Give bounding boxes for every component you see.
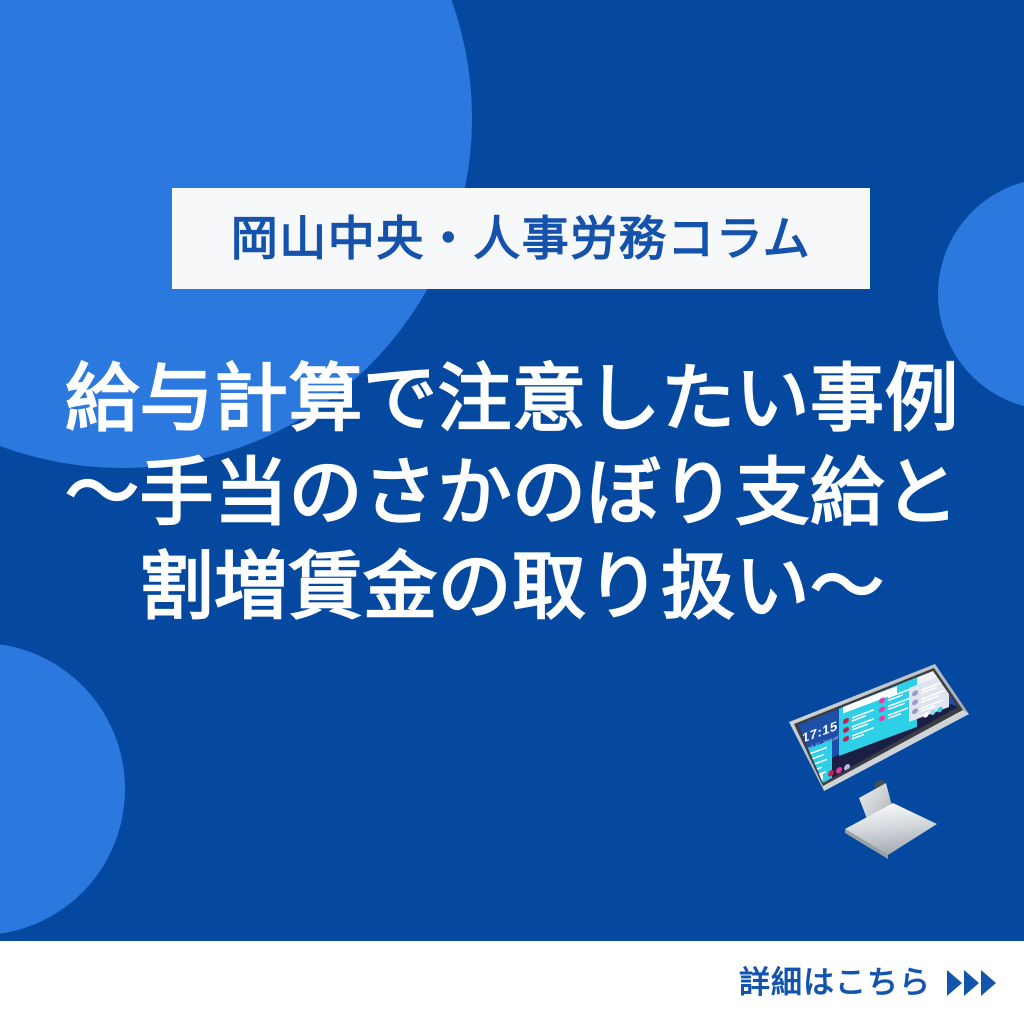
triple-chevron-right-icon: [947, 970, 996, 996]
poster-canvas: 岡山中央・人事労務コラム 給与計算で注意したい事例 〜手当のさかのぼり支給と 割…: [0, 0, 1024, 1024]
chevron-right-icon-2: [964, 970, 979, 996]
monitor-illustration: 17:15 Wed 11 January: [783, 648, 983, 892]
page-title: 給与計算で注意したい事例 〜手当のさかのぼり支給と 割増賃金の取り扱い〜: [0, 352, 1024, 634]
category-badge: 岡山中央・人事労務コラム: [172, 188, 870, 289]
cta-group[interactable]: 詳細はこちら: [739, 967, 996, 998]
page-title-line-1: 給与計算で注意したい事例: [0, 352, 1024, 446]
chevron-right-icon-1: [947, 970, 962, 996]
cta-label[interactable]: 詳細はこちら: [739, 967, 931, 998]
page-title-line-2: 〜手当のさかのぼり支給と: [0, 446, 1024, 540]
chevron-right-icon-3: [981, 970, 996, 996]
category-badge-label: 岡山中央・人事労務コラム: [231, 215, 812, 262]
page-title-line-3: 割増賃金の取り扱い〜: [0, 540, 1024, 634]
decorative-circle-bottom-left: [0, 643, 125, 935]
footer-bar: 詳細はこちら: [0, 941, 1024, 1024]
